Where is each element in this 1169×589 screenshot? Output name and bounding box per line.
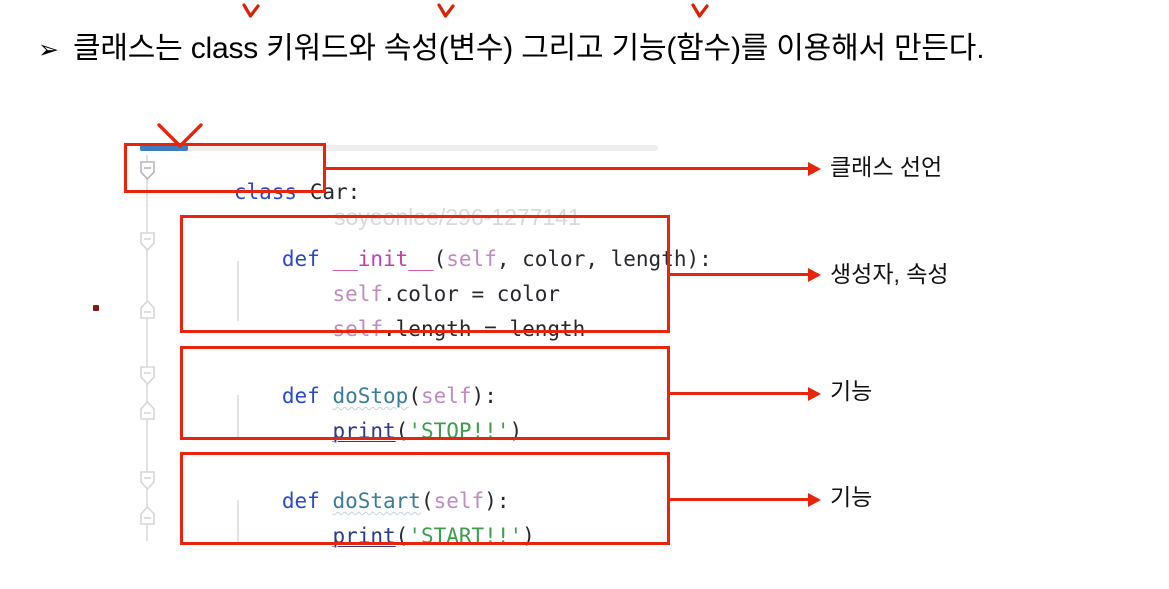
annotation-label-constructor: 생성자, 속성 bbox=[830, 263, 949, 286]
fold-end-init-icon[interactable] bbox=[139, 300, 156, 319]
connector-line-method-2 bbox=[670, 498, 818, 501]
connector-line-constructor bbox=[670, 273, 818, 276]
arrowhead-method-1-icon bbox=[808, 387, 821, 401]
stray-dot-marker bbox=[93, 305, 99, 311]
fold-start-dostop-icon[interactable] bbox=[139, 366, 156, 385]
heading-text: 클래스는 class 키워드와 속성(변수) 그리고 기능(함수)를 이용해서 … bbox=[73, 32, 984, 67]
annotation-label-method-1: 기능 bbox=[830, 380, 872, 403]
highlight-box-method-dostart bbox=[180, 452, 670, 545]
slide-heading: ➢ 클래스는 class 키워드와 속성(변수) 그리고 기능(함수)를 이용해… bbox=[38, 26, 1138, 72]
checkmark-2-icon bbox=[436, 2, 456, 22]
connector-line-class bbox=[326, 167, 818, 170]
connector-line-method-1 bbox=[670, 392, 818, 395]
highlight-box-class-declaration bbox=[124, 143, 326, 193]
arrowhead-constructor-icon bbox=[808, 268, 821, 282]
annotation-label-class-declaration: 클래스 선언 bbox=[830, 156, 942, 179]
highlight-box-constructor bbox=[180, 215, 670, 333]
checkmark-1-icon bbox=[241, 2, 261, 22]
fold-end-dostart-icon[interactable] bbox=[139, 506, 156, 525]
bullet-arrow-icon: ➢ bbox=[38, 37, 59, 62]
arrowhead-class-icon bbox=[808, 162, 821, 176]
arrowhead-method-2-icon bbox=[808, 493, 821, 507]
fold-end-dostop-icon[interactable] bbox=[139, 401, 156, 420]
annotation-label-method-2: 기능 bbox=[830, 486, 872, 509]
checkmark-3-icon bbox=[690, 2, 710, 22]
pointer-chevron-class-icon bbox=[156, 122, 204, 150]
slide-canvas: ➢ 클래스는 class 키워드와 속성(변수) 그리고 기능(함수)를 이용해… bbox=[0, 0, 1169, 589]
fold-start-dostart-icon[interactable] bbox=[139, 471, 156, 490]
highlight-box-method-dostop bbox=[180, 346, 670, 440]
fold-start-init-icon[interactable] bbox=[139, 232, 156, 251]
